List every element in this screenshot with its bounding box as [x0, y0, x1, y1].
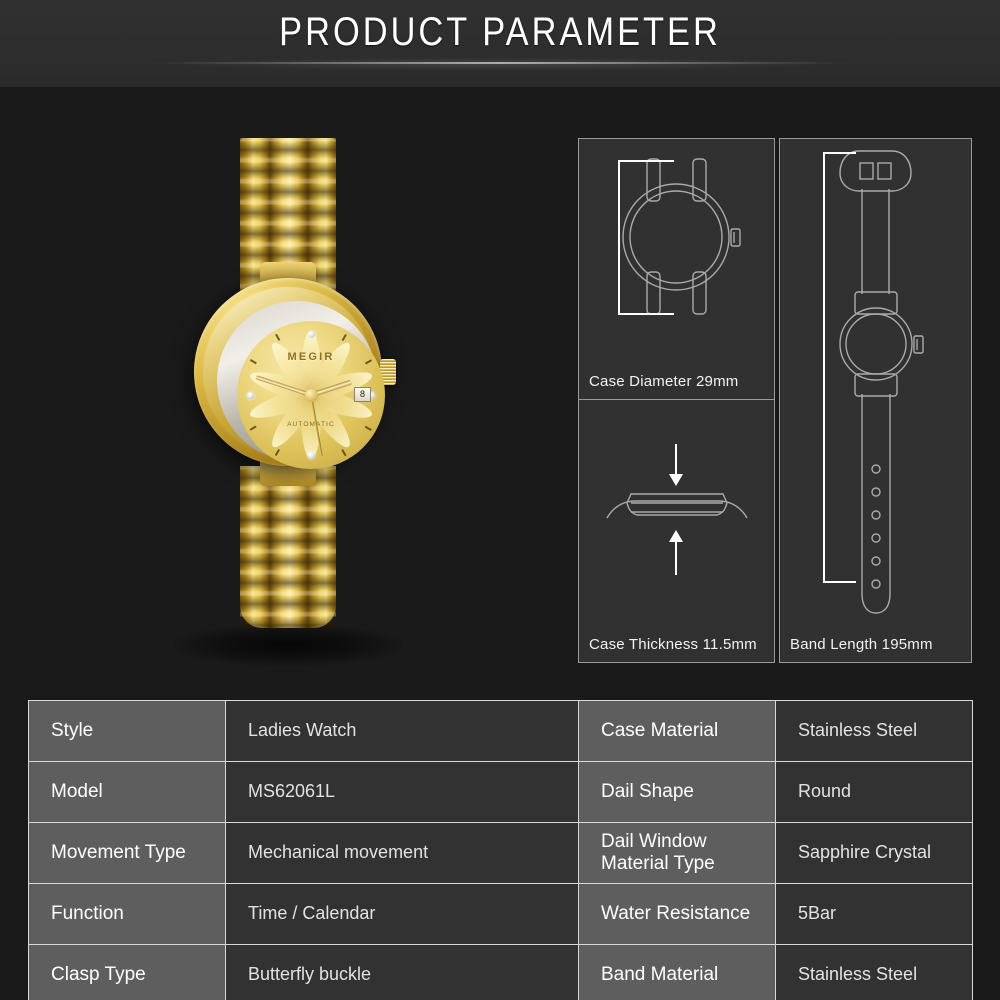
header-divider [150, 62, 850, 64]
case-thickness-caption: Case Thickness 11.5mm [589, 636, 757, 653]
dial-brand-text: MEGIR [237, 351, 385, 363]
product-watch-image: MEGIR AUTOMATIC 8 [188, 138, 388, 638]
spec-label: Clasp Type [29, 945, 226, 1000]
spec-value: Round [776, 762, 973, 823]
band-length-drawing [780, 139, 971, 631]
spec-value: Ladies Watch [226, 701, 579, 762]
band-length-measure-bracket [824, 153, 856, 582]
dial-crystal-marker-6 [308, 452, 315, 459]
panel-case-diameter: Case Diameter 29mm [578, 138, 775, 400]
page-header: PRODUCT PARAMETER [0, 0, 1000, 87]
product-photo-area: MEGIR AUTOMATIC 8 [28, 100, 548, 680]
thickness-arrows [669, 444, 683, 575]
table-row: Clasp Type Butterfly buckle Band Materia… [29, 945, 973, 1000]
case-thickness-drawing [579, 400, 774, 632]
case-diameter-caption: Case Diameter 29mm [589, 373, 738, 390]
dial-movement-text: AUTOMATIC [237, 421, 385, 428]
spec-label: Movement Type [29, 823, 226, 884]
spec-label: Band Material [579, 945, 776, 1000]
spec-label: Case Material [579, 701, 776, 762]
watch-bracelet-lower [240, 466, 336, 628]
spec-value: Time / Calendar [226, 884, 579, 945]
dial-center-cap [305, 389, 318, 402]
spec-value: 5Bar [776, 884, 973, 945]
spec-label: Model [29, 762, 226, 823]
table-row: Style Ladies Watch Case Material Stainle… [29, 701, 973, 762]
spec-label: Dail Window Material Type [579, 823, 776, 884]
case-diameter-drawing [579, 139, 774, 369]
watch-drop-shadow [173, 624, 403, 666]
spec-label: Water Resistance [579, 884, 776, 945]
spec-label: Style [29, 701, 226, 762]
spec-label: Dail Shape [579, 762, 776, 823]
dial-tick [342, 449, 347, 456]
table-row: Function Time / Calendar Water Resistanc… [29, 884, 973, 945]
spec-value: Butterfly buckle [226, 945, 579, 1000]
dial-crystal-marker-12 [308, 331, 315, 338]
watch-dial: MEGIR AUTOMATIC 8 [237, 321, 385, 469]
product-parameter-page: PRODUCT PARAMETER [0, 0, 1000, 1000]
table-row: Movement Type Mechanical movement Dail W… [29, 823, 973, 884]
page-title: PRODUCT PARAMETER [70, 8, 930, 56]
table-row: Model MS62061L Dail Shape Round [29, 762, 973, 823]
dial-crystal-marker-9 [247, 392, 254, 399]
specification-table: Style Ladies Watch Case Material Stainle… [28, 700, 973, 1000]
band-length-caption: Band Length 195mm [790, 636, 933, 653]
watch-bezel: MEGIR AUTOMATIC 8 [217, 301, 377, 461]
dial-date-window: 8 [354, 387, 371, 402]
spec-value: Mechanical movement [226, 823, 579, 884]
spec-value: Stainless Steel [776, 701, 973, 762]
spec-value: Stainless Steel [776, 945, 973, 1000]
panel-band-length: Band Length 195mm [779, 138, 972, 663]
watch-case-ring: MEGIR AUTOMATIC 8 [203, 287, 373, 457]
dial-tick [342, 334, 347, 341]
header-divider-glow [170, 57, 830, 71]
technical-diagram-grid: Case Diameter 29mm Case Thick [578, 138, 972, 663]
spec-value: Sapphire Crystal [776, 823, 973, 884]
dial-tick [275, 334, 280, 341]
spec-value: MS62061L [226, 762, 579, 823]
specification-table-body: Style Ladies Watch Case Material Stainle… [29, 701, 973, 1000]
dial-tick [275, 449, 280, 456]
spec-label: Function [29, 884, 226, 945]
panel-case-thickness: Case Thickness 11.5mm [578, 399, 775, 663]
watch-case: MEGIR AUTOMATIC 8 [194, 278, 382, 466]
